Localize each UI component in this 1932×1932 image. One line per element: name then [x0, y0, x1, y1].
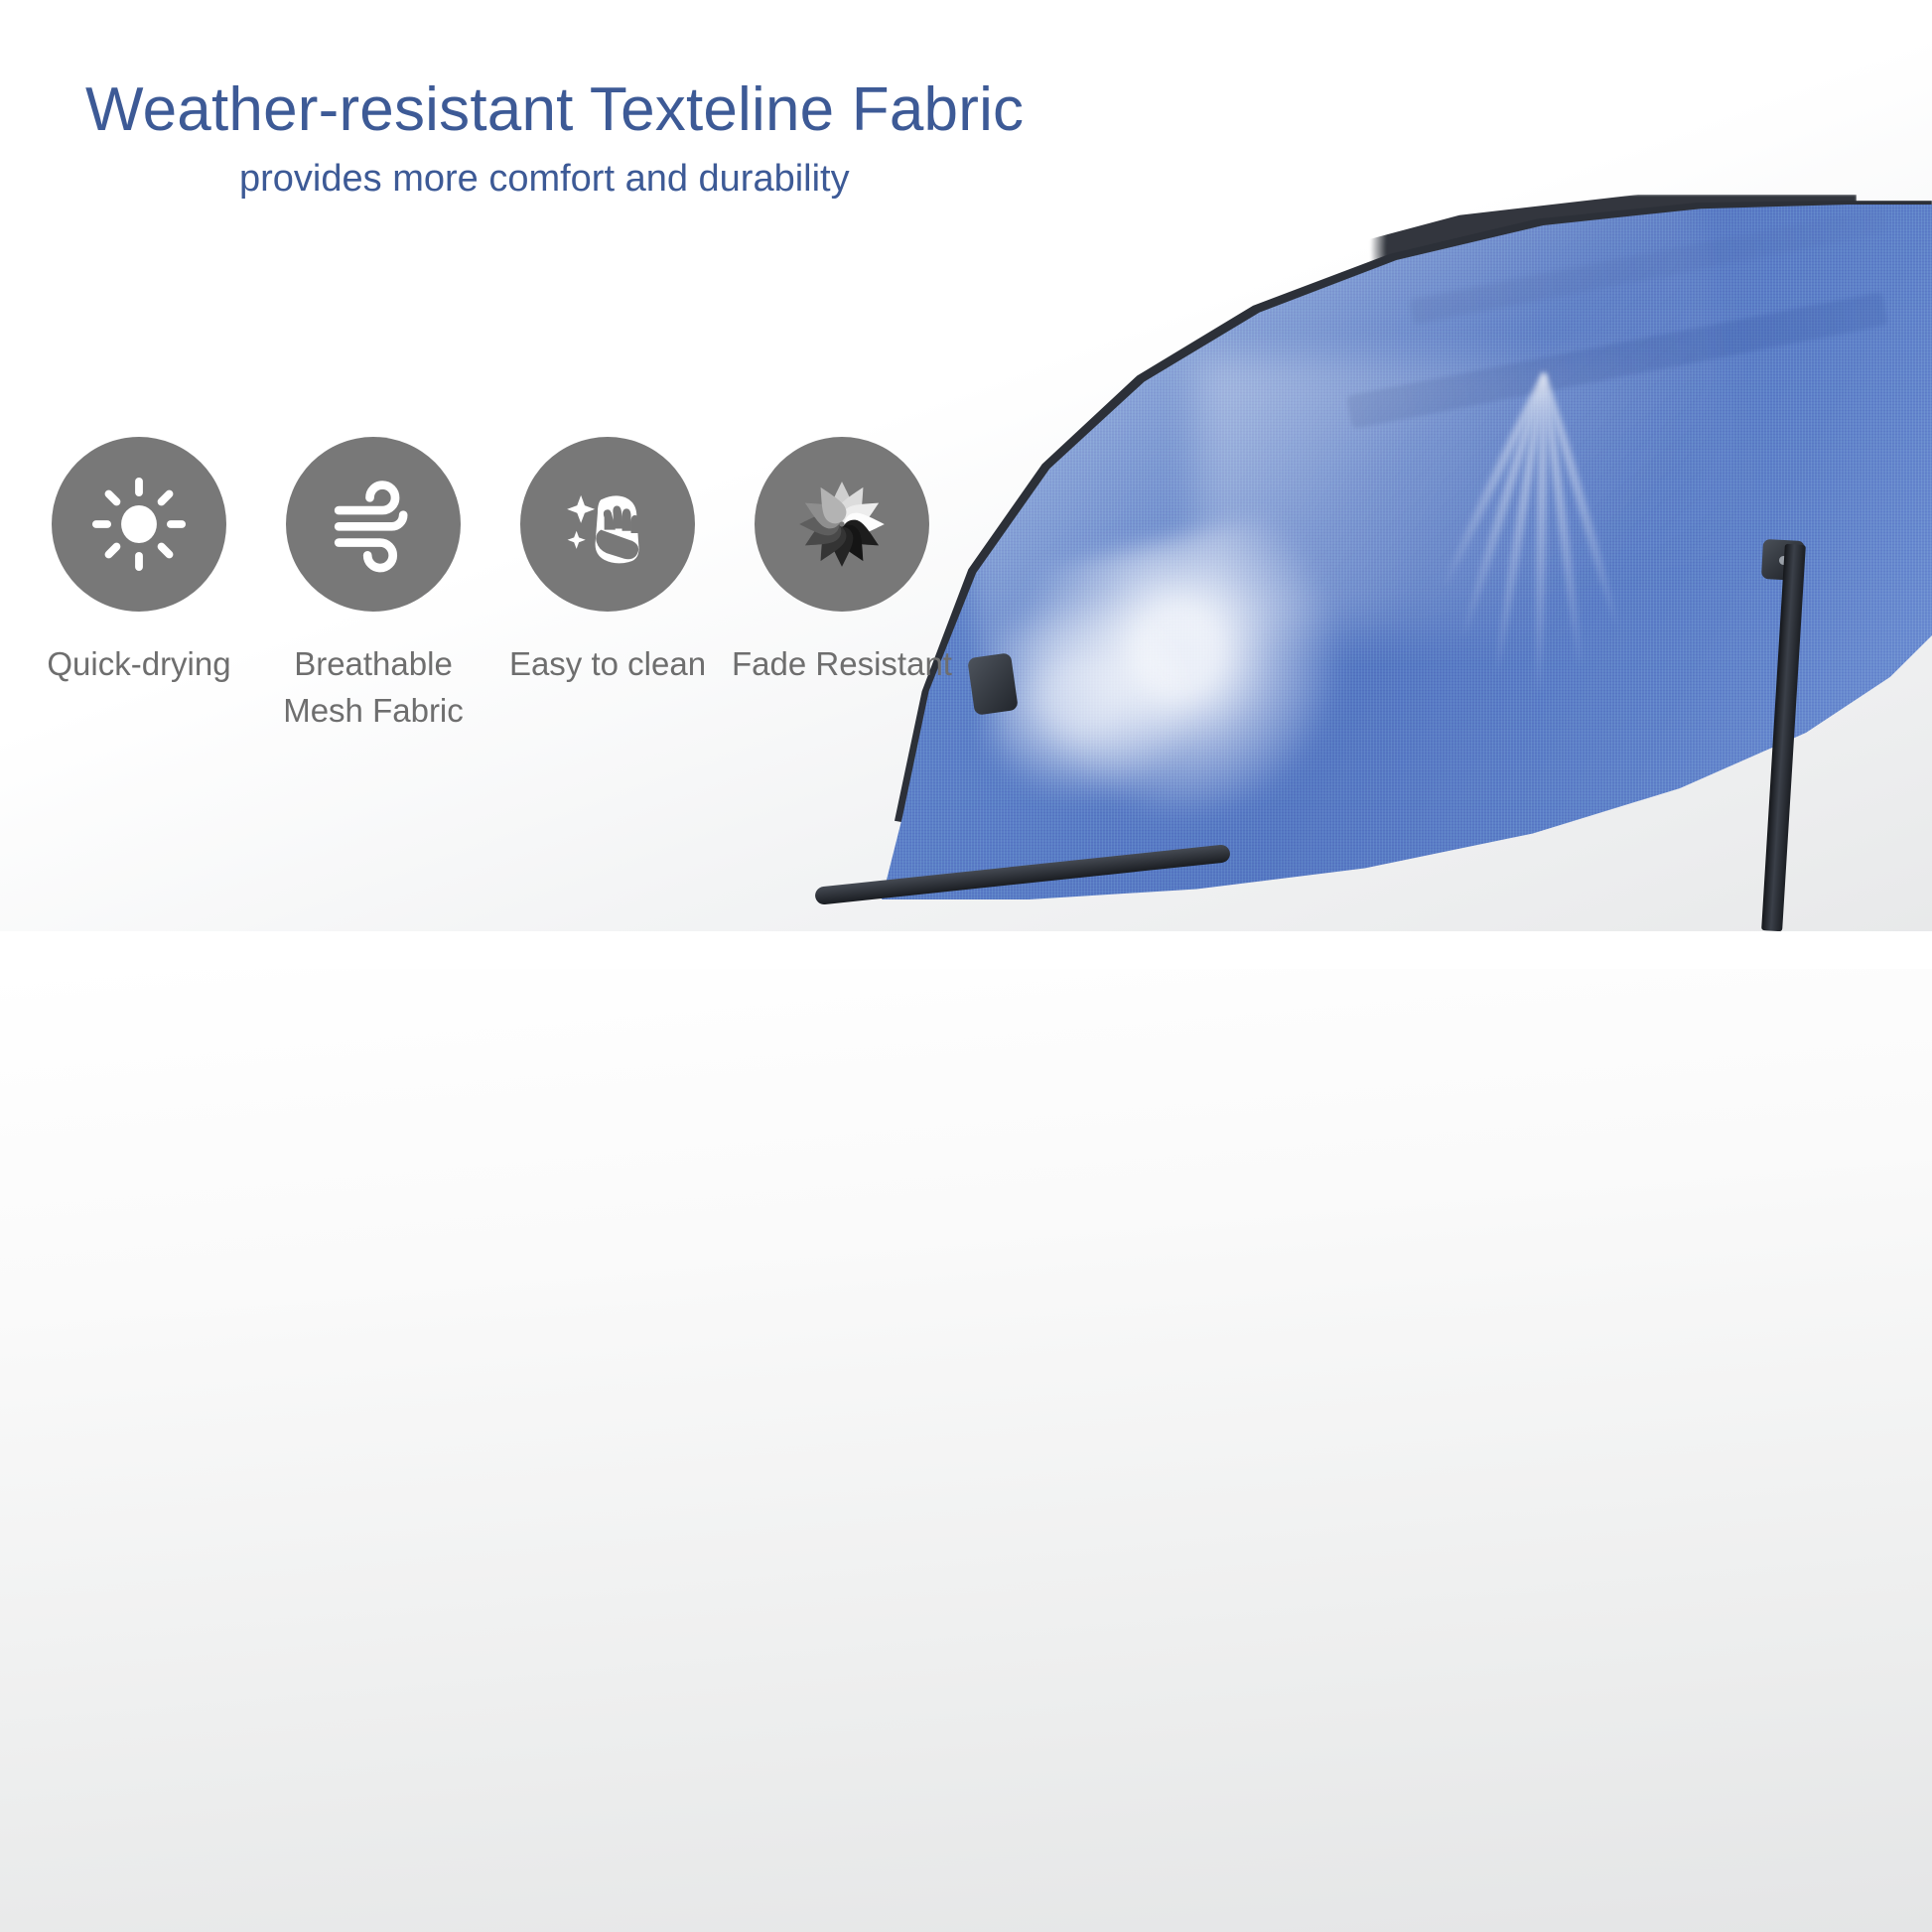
- infographic-board: Weather-resistant Texteline Fabric provi…: [0, 0, 1932, 1932]
- fabric-title: Weather-resistant Texteline Fabric: [85, 77, 1024, 144]
- feature-label: Breathable Mesh Fabric: [283, 641, 464, 735]
- chair-hinge: [967, 652, 1019, 716]
- fabric-subtitle: provides more comfort and durability: [239, 158, 1024, 202]
- feature-easy-to-clean: Easy to clean: [490, 437, 725, 688]
- fade-wheel-icon: [755, 437, 929, 612]
- frame-panel: Durable Aluminum Frame for easy carry an…: [0, 969, 1932, 1932]
- fabric-heading-block: Weather-resistant Texteline Fabric provi…: [85, 77, 1024, 202]
- feature-breathable: Breathable Mesh Fabric: [256, 437, 490, 735]
- feature-fade-resistant: Fade Resistant: [725, 437, 959, 688]
- sun-icon: [52, 437, 226, 612]
- panel-divider: [0, 931, 1932, 969]
- feature-quick-drying: Quick-drying: [22, 437, 256, 688]
- feature-label: Fade Resistant: [732, 641, 952, 688]
- fabric-feature-list: Quick-drying Breathable Mesh Fabric: [22, 437, 959, 735]
- fabric-panel: Weather-resistant Texteline Fabric provi…: [0, 0, 1932, 931]
- feature-label: Easy to clean: [509, 641, 706, 688]
- wipe-clean-icon: [520, 437, 695, 612]
- wind-icon: [286, 437, 461, 612]
- feature-label: Quick-drying: [47, 641, 230, 688]
